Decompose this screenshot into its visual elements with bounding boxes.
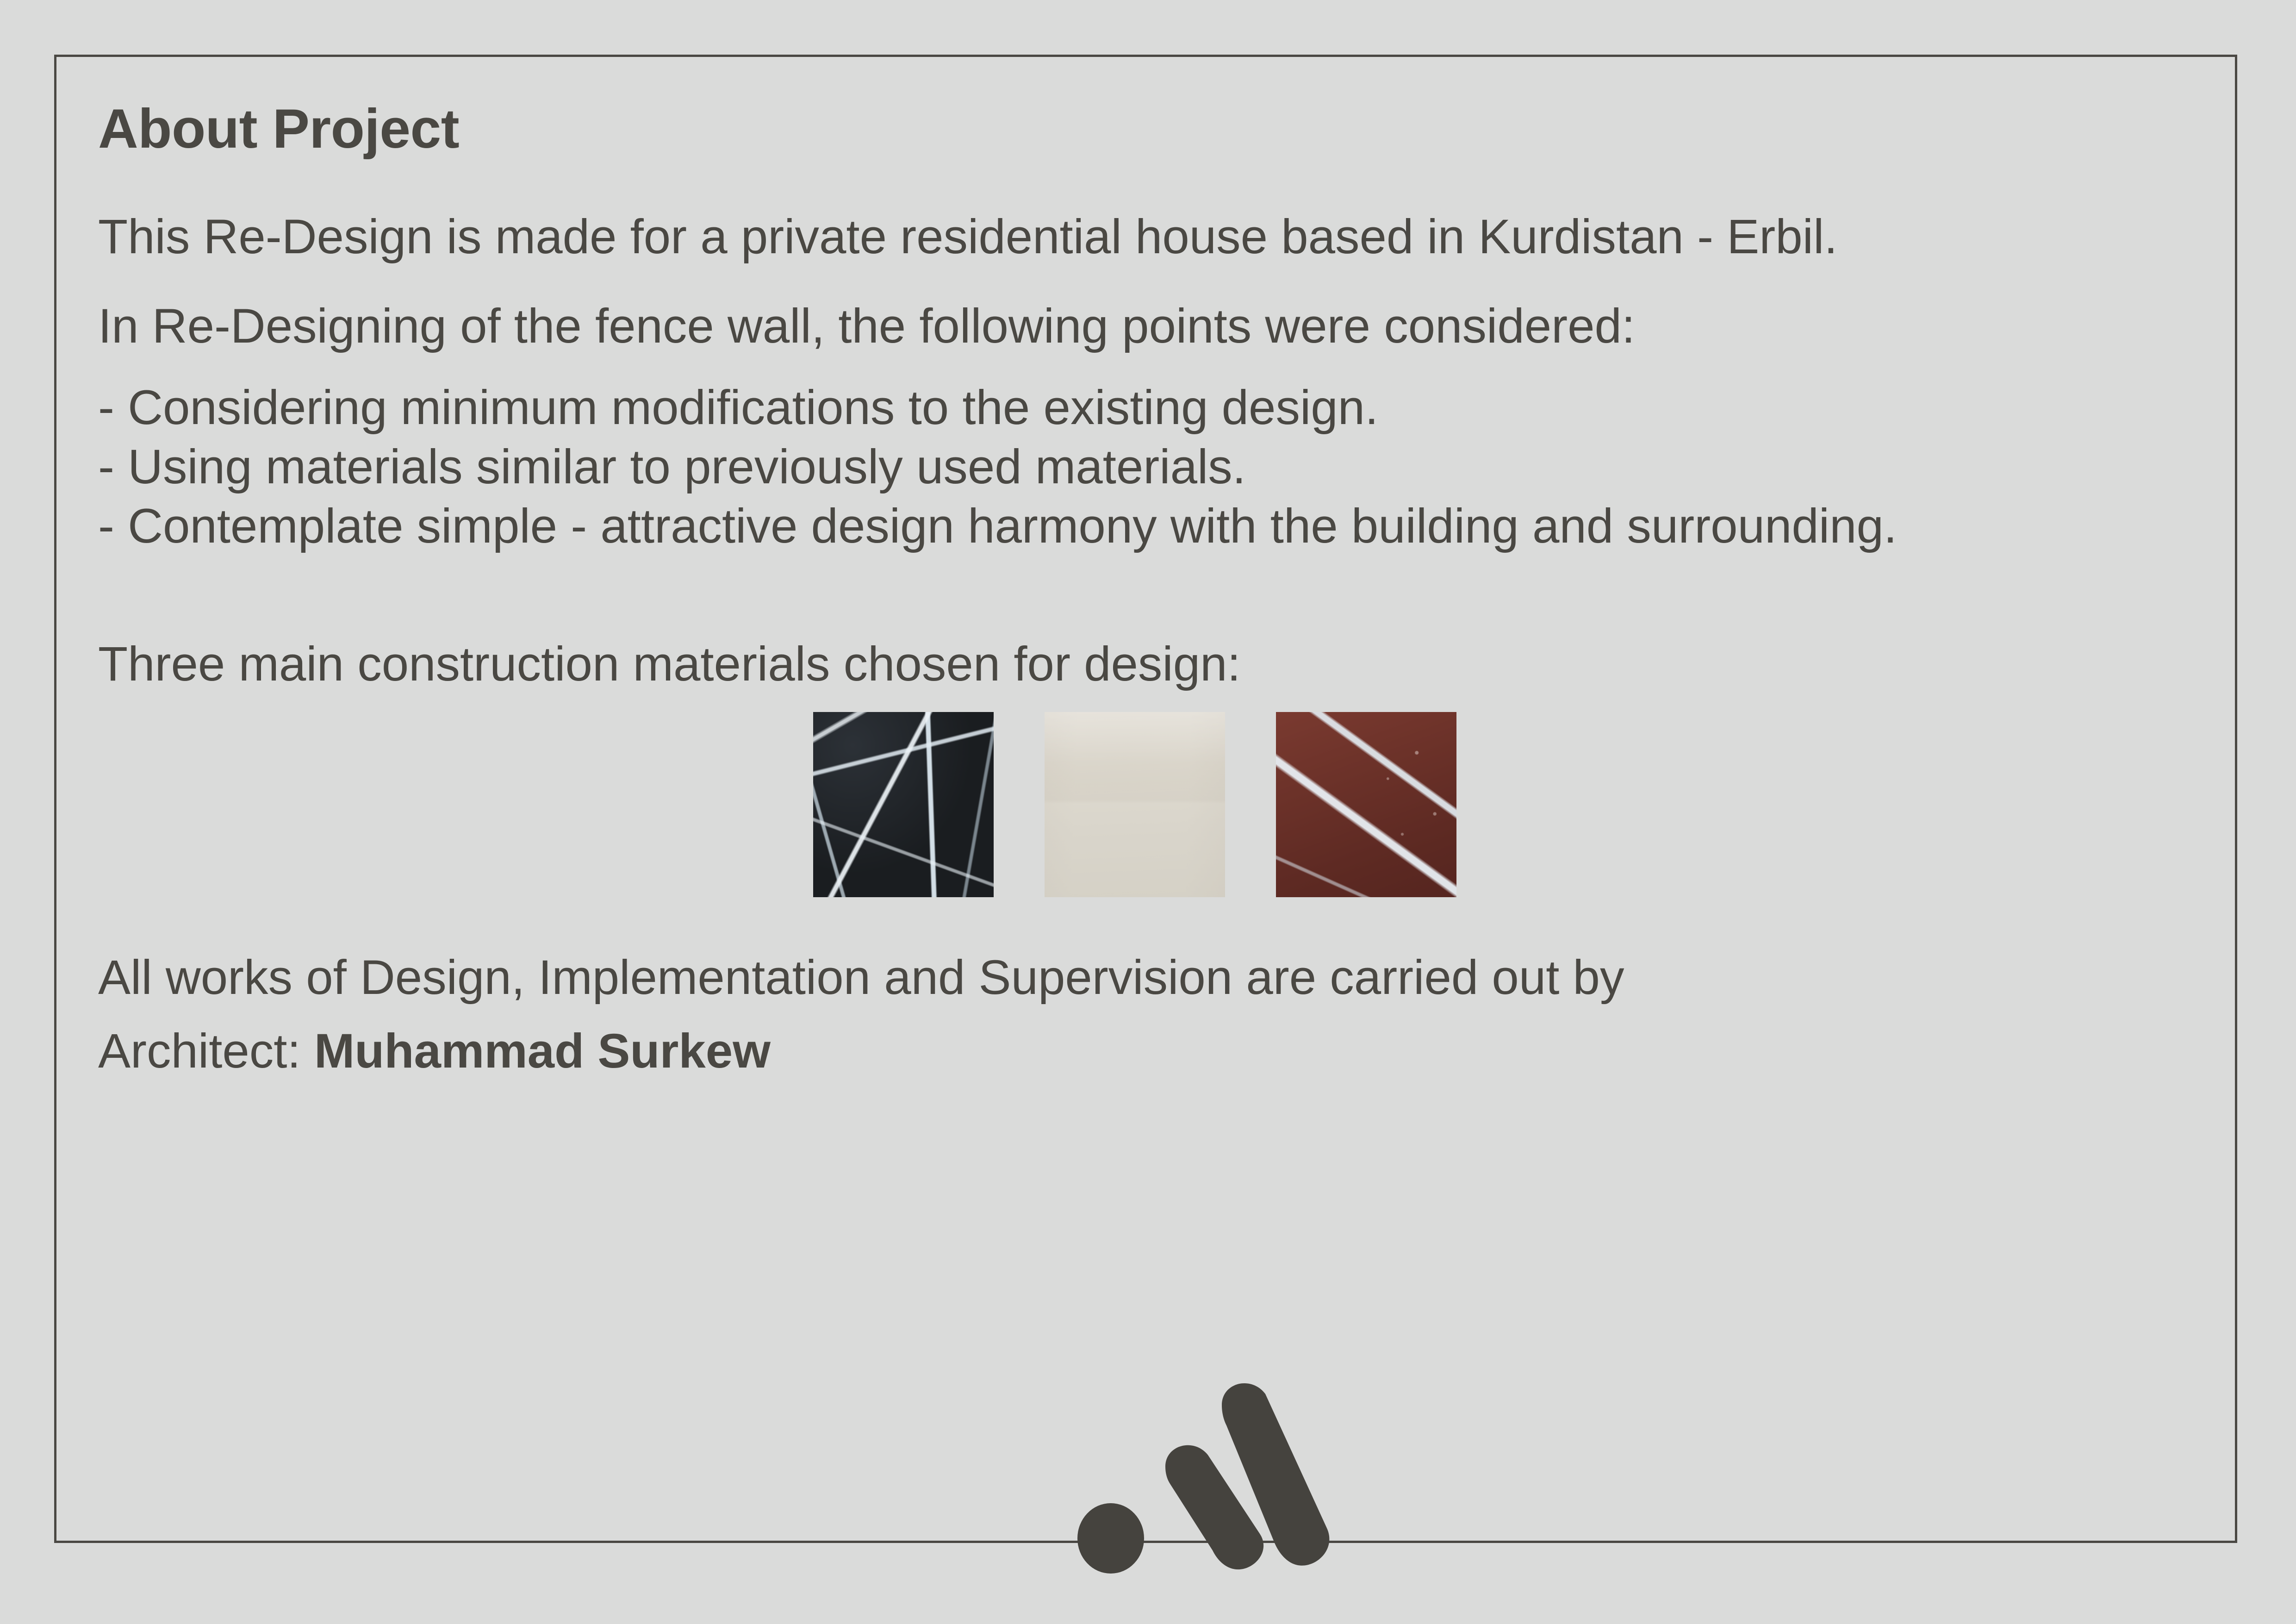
spacer	[98, 690, 2207, 712]
cream-travertine-swatch	[1045, 712, 1225, 897]
spacer	[98, 1003, 2207, 1025]
materials-label: Three main construction materials chosen…	[98, 638, 2207, 690]
page-title: About Project	[98, 101, 2207, 156]
about-project-panel: About Project This Re-Design is made for…	[54, 55, 2237, 1543]
logo-dot-icon	[1077, 1503, 1144, 1574]
list-item: - Contemplate simple - attractive design…	[98, 497, 2207, 556]
spacer	[98, 897, 2207, 952]
material-swatch-row	[98, 712, 2207, 897]
architect-label: Architect:	[98, 1024, 314, 1078]
surkew-studio-logo	[1075, 1381, 1334, 1575]
spacer	[98, 556, 2207, 638]
list-item: - Considering minimum modifications to t…	[98, 378, 2207, 437]
panel-content: About Project This Re-Design is made for…	[98, 101, 2207, 1527]
spacer	[98, 352, 2207, 378]
spacer	[98, 262, 2207, 300]
intro-paragraph: This Re-Design is made for a private res…	[98, 211, 2207, 262]
credit-line: All works of Design, Implementation and …	[98, 952, 2207, 1003]
lead-in-paragraph: In Re-Designing of the fence wall, the f…	[98, 300, 2207, 352]
architect-name: Muhammad Surkew	[314, 1024, 771, 1078]
red-marble-swatch	[1276, 712, 1456, 897]
black-marble-swatch	[813, 712, 994, 897]
spacer	[98, 156, 2207, 211]
list-item: - Using materials similar to previously …	[98, 437, 2207, 497]
architect-line: Architect: Muhammad Surkew	[98, 1025, 2207, 1077]
